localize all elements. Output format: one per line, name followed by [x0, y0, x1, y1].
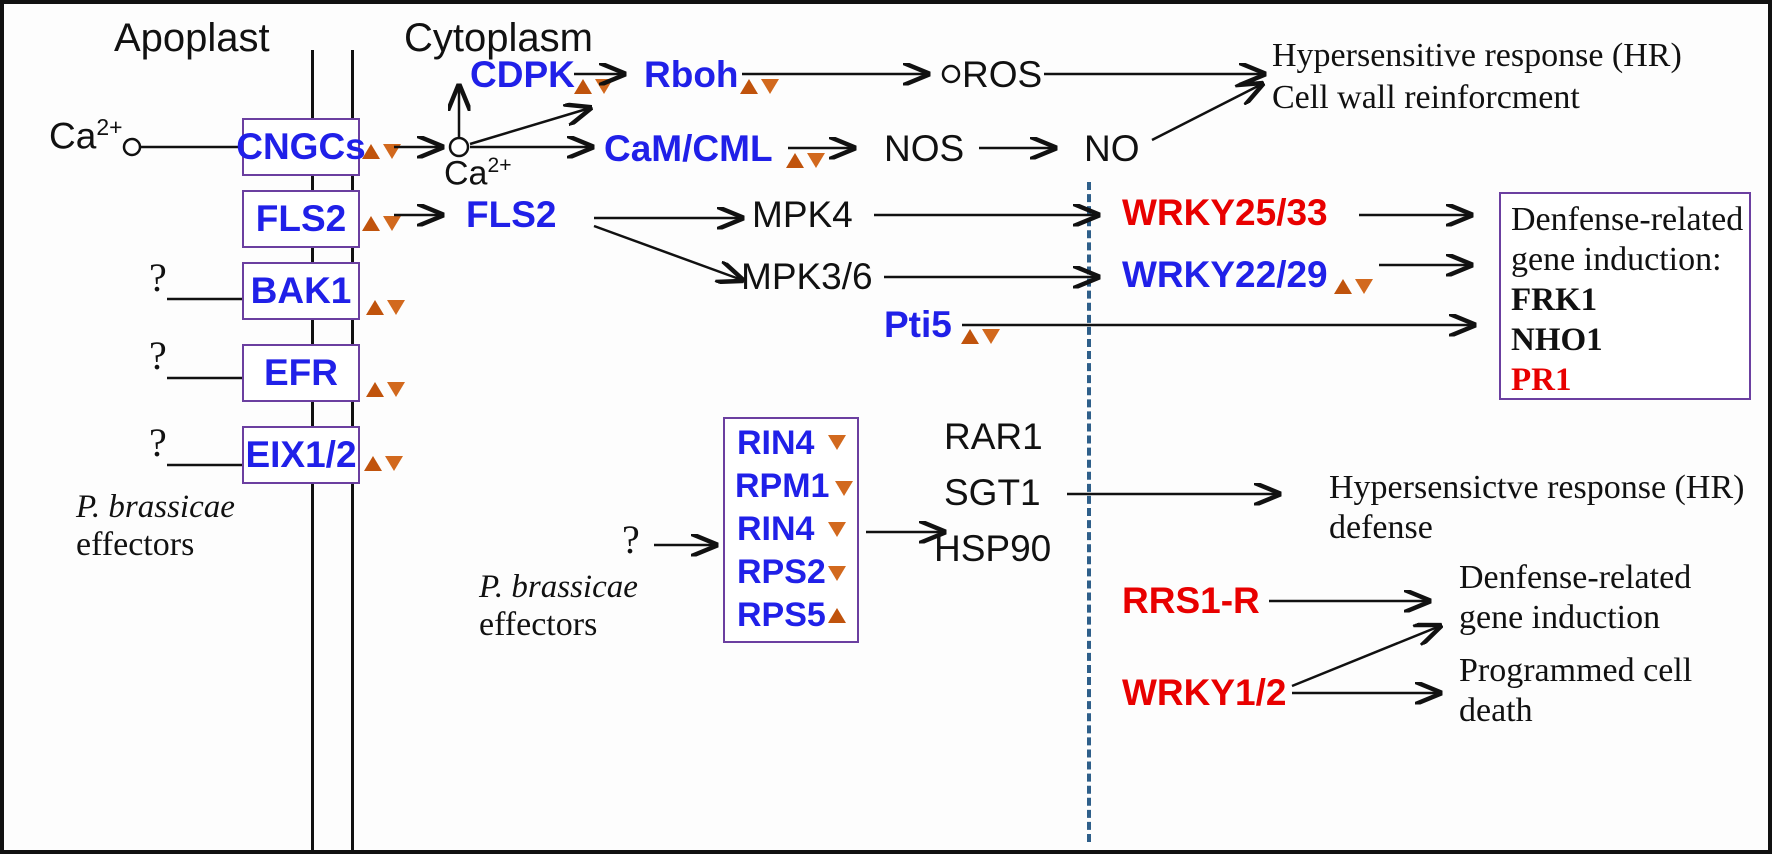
cdpk-to-rboh-arrow — [574, 62, 644, 86]
eti-effector-label: effectors — [479, 606, 597, 644]
defense-box-header-line2: gene induction: — [1511, 240, 1739, 280]
down-triangle-icon — [828, 435, 846, 450]
chaperone-to-hr-defense-arrow — [1067, 481, 1307, 507]
unknown-ligand-eix: ? — [149, 419, 167, 466]
calcium-charge: 2+ — [96, 114, 122, 140]
chaperone-rar1: RAR1 — [944, 416, 1043, 458]
rrs1r-to-defense-gene-arrow — [1269, 588, 1459, 614]
defense-box-header-line1: Denfense-related — [1511, 200, 1739, 240]
apoplast-calcium-label: Ca2+ — [49, 114, 122, 157]
down-triangle-icon — [1355, 279, 1373, 294]
receptor-box-fls2[interactable]: FLS2 — [242, 190, 360, 248]
apoplast-effector-species: P. brassicae — [76, 489, 235, 526]
eti-outcome-defense: defense — [1329, 509, 1433, 547]
defense-gene-pr1: PR1 — [1511, 360, 1739, 400]
wrky12-to-pcd-arrow — [1292, 680, 1472, 706]
defense-gene-nho1: NHO1 — [1511, 320, 1739, 360]
outcome-hypersensitive-response: Hypersensitive response (HR) — [1272, 37, 1682, 75]
down-triangle-icon — [387, 382, 405, 397]
node-rrs1-r[interactable]: RRS1-R — [1122, 580, 1260, 622]
defense-gene-induction-box: Denfense-related gene induction: FRK1 NH… — [1499, 192, 1751, 400]
node-cdpk[interactable]: CDPK — [470, 54, 575, 96]
bottom-outcome-defense-line2: gene induction — [1459, 599, 1660, 637]
node-rboh[interactable]: Rboh — [644, 54, 739, 96]
receptor-label-fls2: FLS2 — [256, 198, 346, 240]
r-protein-rps2[interactable]: RPS2 — [737, 553, 826, 592]
down-triangle-icon — [828, 566, 846, 581]
calcium-charge: 2+ — [487, 154, 511, 177]
up-triangle-icon — [362, 144, 380, 159]
node-wrky2229[interactable]: WRKY22/29 — [1122, 254, 1328, 296]
receptor-box-cngcs[interactable]: CNGCs — [242, 118, 360, 176]
eti-unknown-mark: ? — [622, 516, 640, 563]
open-circle-node — [124, 139, 140, 155]
up-triangle-icon — [366, 300, 384, 315]
eti-outcome-hr: Hypersensictve response (HR) — [1329, 469, 1744, 507]
chaperone-hsp90: HSP90 — [934, 528, 1051, 570]
fls2-membrane-to-cytoplasm-arrow — [394, 202, 464, 228]
node-no: NO — [1084, 128, 1140, 170]
calcium-text: Ca — [444, 154, 487, 192]
cam-to-nos-arrow — [788, 136, 878, 160]
regulation-triangles-wrky2229 — [1334, 279, 1373, 294]
bottom-outcome-pcd-line2: death — [1459, 692, 1533, 730]
receptor-label-eix12: EIX1/2 — [245, 434, 356, 476]
receptor-box-eix12[interactable]: EIX1/2 — [242, 426, 360, 484]
receptor-label-bak1: BAK1 — [251, 270, 352, 312]
calcium-text: Ca — [49, 115, 96, 156]
regulation-triangles-eix12 — [364, 456, 403, 471]
rboh-to-ros-arrow — [742, 62, 952, 86]
r-protein-box: RIN4 RPM1 RIN4 RPS2 RPS5 — [723, 417, 859, 643]
node-fls2-cytoplasmic[interactable]: FLS2 — [466, 194, 556, 236]
node-mpk36: MPK3/6 — [741, 256, 873, 298]
receptor-box-bak1[interactable]: BAK1 — [242, 262, 360, 320]
apoplast-label: Apoplast — [114, 16, 270, 61]
node-wrky12[interactable]: WRKY1/2 — [1122, 672, 1286, 714]
regulation-triangles-bak1 — [366, 300, 405, 315]
down-triangle-icon — [828, 522, 846, 537]
bottom-outcome-defense-line1: Denfense-related — [1459, 559, 1691, 597]
r-protein-rps5[interactable]: RPS5 — [737, 596, 826, 635]
wrky2229-to-defense-box-arrow — [1379, 252, 1499, 278]
down-triangle-icon — [385, 456, 403, 471]
regulation-triangles-efr — [366, 382, 405, 397]
pathway-diagram-canvas: Apoplast Cytoplasm Ca2+ ? ? ? P. brassic… — [0, 0, 1772, 854]
bottom-outcome-pcd-line1: Programmed cell — [1459, 652, 1692, 690]
unknown-ligand-efr: ? — [149, 332, 167, 379]
node-mpk4: MPK4 — [752, 194, 853, 236]
node-wrky2533[interactable]: WRKY25/33 — [1122, 192, 1328, 234]
node-ros: ROS — [962, 54, 1042, 96]
receptor-label-efr: EFR — [264, 352, 338, 394]
up-triangle-icon — [828, 608, 846, 623]
eti-effector-species: P. brassicae — [479, 569, 638, 606]
receptor-label-cngcs: CNGCs — [236, 126, 366, 168]
pti5-to-defense-box-arrow — [962, 312, 1502, 338]
node-nos: NOS — [884, 128, 964, 170]
down-triangle-icon — [835, 481, 853, 496]
outcome-cell-wall-reinforcement: Cell wall reinforcment — [1272, 79, 1580, 117]
nos-to-no-arrow — [979, 136, 1079, 160]
down-triangle-icon — [387, 300, 405, 315]
r-protein-rpm1[interactable]: RPM1 — [735, 467, 829, 506]
node-cam-cml[interactable]: CaM/CML — [604, 128, 773, 170]
wrky2533-to-defense-box-arrow — [1359, 202, 1499, 228]
apoplast-effector-label: effectors — [76, 526, 194, 564]
cytosolic-calcium-label: Ca2+ — [444, 154, 512, 193]
up-triangle-icon — [366, 382, 384, 397]
defense-gene-frk1: FRK1 — [1511, 280, 1739, 320]
mpk36-to-wrky2229-arrow — [884, 264, 1124, 290]
up-triangle-icon — [364, 456, 382, 471]
up-triangle-icon — [1334, 279, 1352, 294]
receptor-box-efr[interactable]: EFR — [242, 344, 360, 402]
mpk4-to-wrky2533-arrow — [874, 202, 1124, 228]
up-triangle-icon — [362, 216, 380, 231]
chaperone-sgt1: SGT1 — [944, 472, 1041, 514]
node-pti5[interactable]: Pti5 — [884, 304, 952, 346]
unknown-ligand-bak1: ? — [149, 254, 167, 301]
r-protein-rin4-b[interactable]: RIN4 — [737, 510, 814, 549]
r-protein-rin4-a[interactable]: RIN4 — [737, 424, 814, 463]
